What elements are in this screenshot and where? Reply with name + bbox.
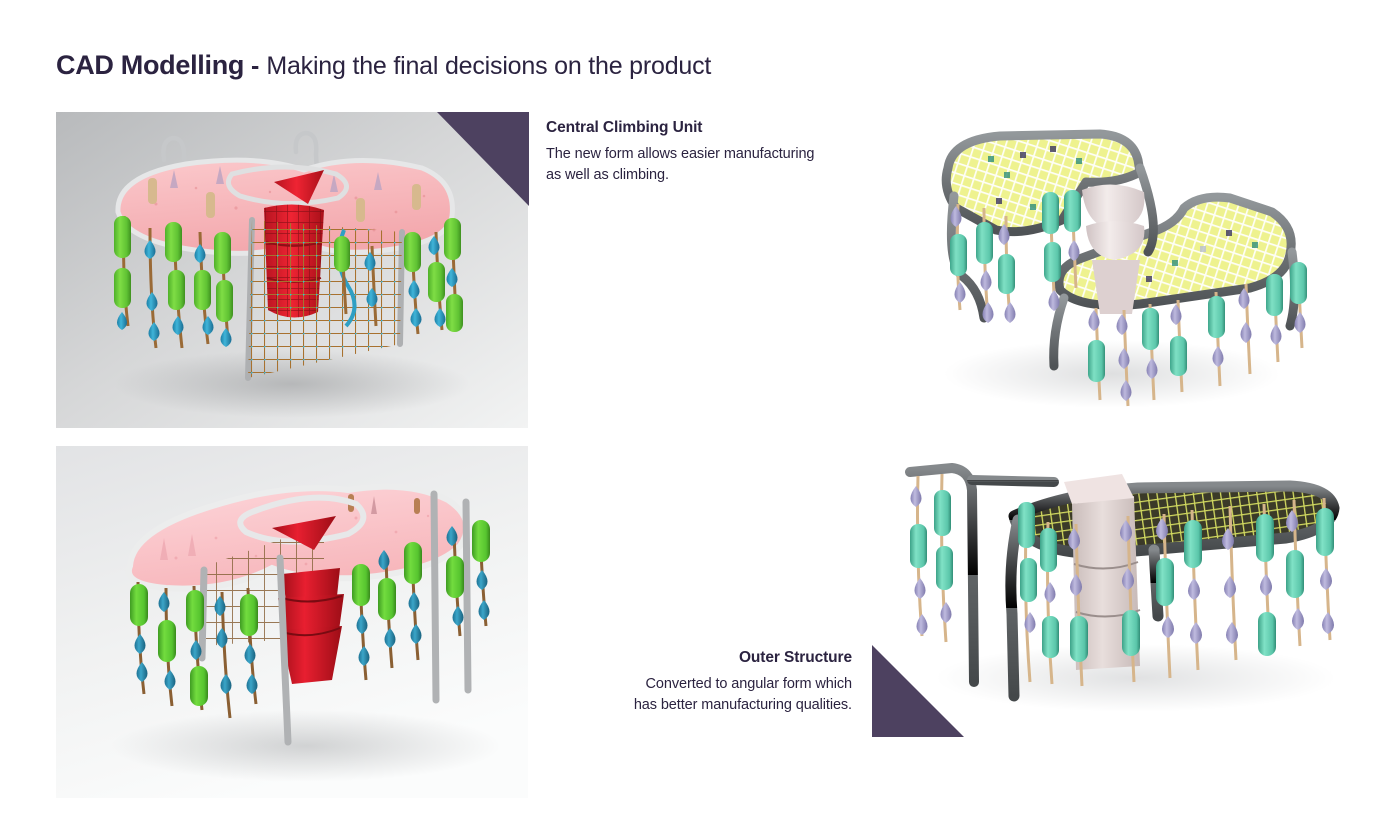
callout-body-line: has better manufacturing qualities. [556, 695, 852, 716]
slide-canvas: CAD Modelling - Making the final decisio… [0, 0, 1400, 840]
callout-body: Converted to angular form which has bett… [556, 674, 852, 715]
callout-body-line: as well as climbing. [546, 165, 876, 186]
render-image-bottom-left [56, 446, 528, 798]
callout-outer-structure: Outer Structure Converted to angular for… [556, 648, 852, 716]
callout-body: The new form allows easier manufacturing… [546, 144, 876, 185]
cad-render-peanut-low-view [56, 446, 528, 798]
page-title: CAD Modelling - Making the final decisio… [56, 50, 711, 81]
ground-shadow [944, 340, 1280, 408]
callout-heading: Outer Structure [556, 648, 852, 667]
page-title-subtitle: Making the final decisions on the produc… [266, 52, 711, 81]
triangle-shape-top [437, 112, 529, 206]
accent-triangle-top [437, 112, 529, 206]
accent-triangle-bottom [872, 645, 964, 737]
page-title-main: CAD Modelling [56, 50, 244, 81]
triangle-shape-bottom [872, 645, 964, 737]
page-title-separator: - [244, 52, 266, 81]
cad-render-angular-raised-view [900, 112, 1320, 428]
callout-body-line: The new form allows easier manufacturing [546, 144, 876, 165]
callout-body-line: Converted to angular form which [556, 674, 852, 695]
callout-heading: Central Climbing Unit [546, 118, 876, 137]
ground-shadow [111, 710, 501, 782]
callout-central-climbing-unit: Central Climbing Unit The new form allow… [546, 118, 876, 186]
render-image-top-right [900, 112, 1320, 428]
